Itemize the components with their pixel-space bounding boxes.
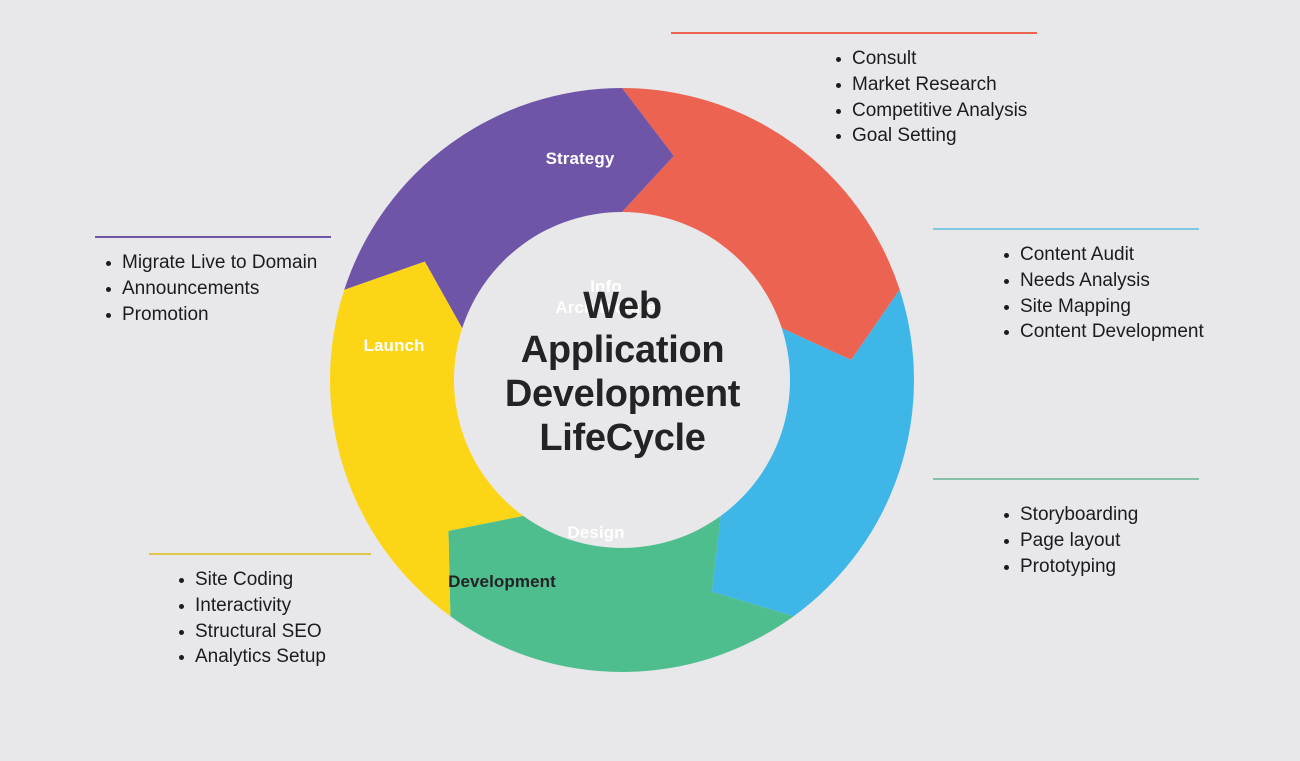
callout-info-architecture: Content Audit Needs Analysis Site Mappin…: [933, 228, 1199, 345]
list-item: Site Mapping: [1001, 294, 1199, 320]
list-item: Page layout: [1001, 528, 1199, 554]
callout-launch: Migrate Live to Domain Announcements Pro…: [95, 236, 331, 327]
list-item: Competitive Analysis: [833, 98, 1037, 124]
infographic-canvas: Strategy Info Architecture Design Develo…: [0, 0, 1300, 761]
list-item: Interactivity: [176, 593, 371, 619]
callout-rule-launch: [95, 236, 331, 238]
list-item: Content Audit: [1001, 242, 1199, 268]
callout-rule-design: [933, 478, 1199, 480]
page-title: Web Application Development LifeCycle: [470, 285, 775, 461]
callout-strategy: Consult Market Research Competitive Anal…: [671, 32, 1037, 149]
list-item: Market Research: [833, 72, 1037, 98]
list-item: Structural SEO: [176, 619, 371, 645]
list-item: Site Coding: [176, 567, 371, 593]
callout-design: Storyboarding Page layout Prototyping: [933, 478, 1199, 579]
callout-rule-development: [149, 553, 371, 555]
callout-list-development: Site Coding Interactivity Structural SEO…: [149, 567, 371, 670]
callout-list-info-architecture: Content Audit Needs Analysis Site Mappin…: [933, 242, 1199, 345]
callout-rule-strategy: [671, 32, 1037, 34]
callout-development: Site Coding Interactivity Structural SEO…: [149, 553, 371, 670]
callout-list-launch: Migrate Live to Domain Announcements Pro…: [95, 250, 331, 327]
callout-list-design: Storyboarding Page layout Prototyping: [933, 502, 1199, 579]
list-item: Needs Analysis: [1001, 268, 1199, 294]
list-item: Analytics Setup: [176, 644, 371, 670]
list-item: Storyboarding: [1001, 502, 1199, 528]
callout-rule-info-architecture: [933, 228, 1199, 230]
list-item: Promotion: [103, 302, 331, 328]
list-item: Consult: [833, 46, 1037, 72]
list-item: Prototyping: [1001, 554, 1199, 580]
list-item: Content Development: [1001, 319, 1199, 345]
list-item: Migrate Live to Domain: [103, 250, 331, 276]
list-item: Goal Setting: [833, 123, 1037, 149]
callout-list-strategy: Consult Market Research Competitive Anal…: [671, 46, 1037, 149]
list-item: Announcements: [103, 276, 331, 302]
